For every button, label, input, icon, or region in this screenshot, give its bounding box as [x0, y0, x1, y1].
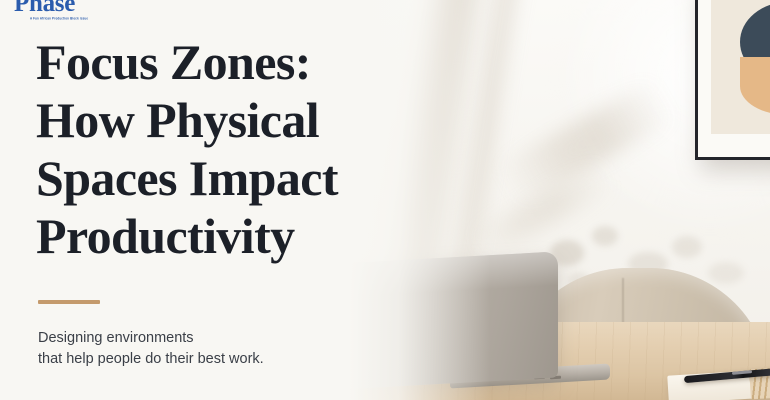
brand-wordmark: Phase — [14, 0, 164, 16]
brand-tagline: A Fun African Production Block issue — [30, 17, 164, 20]
headline-line: Productivity — [36, 207, 406, 265]
foliage-shadow — [708, 262, 744, 284]
abstract-artwork — [711, 0, 770, 134]
brand-logo[interactable]: Phase A Fun African Production Block iss… — [14, 0, 164, 20]
headline-line: How Physical — [36, 91, 406, 149]
page-title: Focus Zones: How Physical Spaces Impact … — [36, 33, 406, 265]
tan-half-circle-shape — [740, 57, 770, 115]
framed-art-print — [695, 0, 770, 160]
subtitle: Designing environments that help people … — [38, 328, 338, 370]
subtitle-line: Designing environments — [38, 328, 338, 349]
headline-line: Focus Zones: — [36, 33, 406, 91]
poster-canvas: Phase A Fun African Production Block iss… — [0, 0, 770, 400]
subtitle-line: that help people do their best work. — [38, 349, 338, 370]
accent-divider — [38, 300, 100, 304]
foliage-shadow — [592, 226, 618, 246]
foliage-shadow — [672, 236, 702, 258]
headline-line: Spaces Impact — [36, 149, 406, 207]
